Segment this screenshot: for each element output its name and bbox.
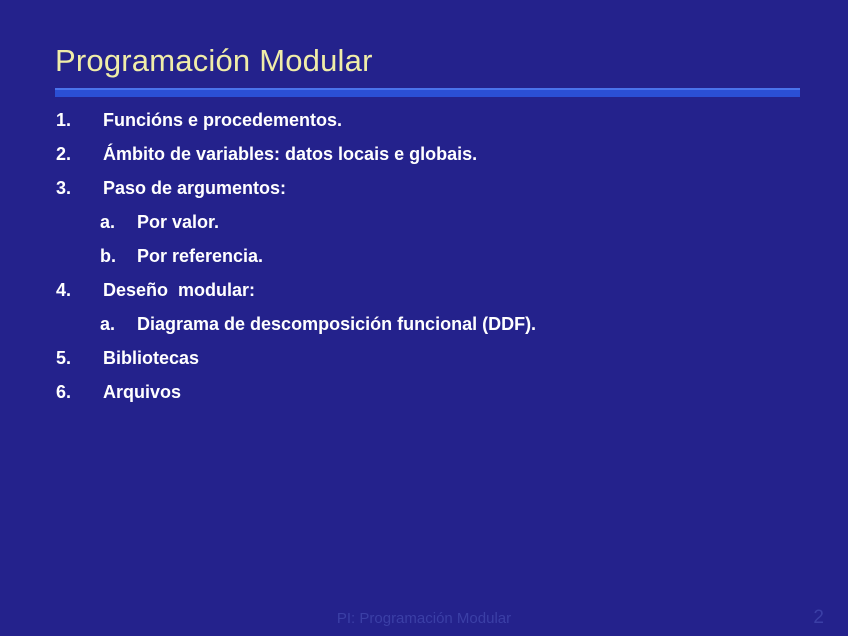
presentation-slide: Programación Modular 1.Funcións e proced… bbox=[0, 0, 848, 636]
list-item-label: Bibliotecas bbox=[103, 341, 199, 375]
list-item-label: Diagrama de descomposición funcional (DD… bbox=[137, 307, 536, 341]
list-item: 6.Arquivos bbox=[0, 375, 848, 409]
list-item-marker: 1. bbox=[56, 103, 71, 137]
list-item-label: Paso de argumentos: bbox=[103, 171, 286, 205]
list-item: 2.Ámbito de variables: datos locais e gl… bbox=[0, 137, 848, 171]
list-item-label: Ámbito de variables: datos locais e glob… bbox=[103, 137, 477, 171]
list-item-label: Arquivos bbox=[103, 375, 181, 409]
list-item: 5.Bibliotecas bbox=[0, 341, 848, 375]
list-item: 3.Paso de argumentos: bbox=[0, 171, 848, 205]
list-item: 4.Deseño modular: bbox=[0, 273, 848, 307]
list-item-label: Deseño modular: bbox=[103, 273, 255, 307]
list-item: a.Por valor. bbox=[0, 205, 848, 239]
outline-list: 1.Funcións e procedementos.2.Ámbito de v… bbox=[0, 103, 848, 409]
list-item: a.Diagrama de descomposición funcional (… bbox=[0, 307, 848, 341]
list-item-marker: 2. bbox=[56, 137, 71, 171]
list-item-marker: a. bbox=[100, 307, 115, 341]
slide-footer: PI: Programación Modular bbox=[0, 610, 848, 627]
list-item-label: Por valor. bbox=[137, 205, 219, 239]
list-item-label: Funcións e procedementos. bbox=[103, 103, 342, 137]
list-item-marker: a. bbox=[100, 205, 115, 239]
page-number: 2 bbox=[813, 607, 824, 629]
list-item-marker: 6. bbox=[56, 375, 71, 409]
list-item-marker: 3. bbox=[56, 171, 71, 205]
list-item-label: Por referencia. bbox=[137, 239, 263, 273]
list-item-marker: b. bbox=[100, 239, 116, 273]
list-item-marker: 4. bbox=[56, 273, 71, 307]
list-item: 1.Funcións e procedementos. bbox=[0, 103, 848, 137]
title-divider bbox=[55, 88, 800, 97]
list-item: b.Por referencia. bbox=[0, 239, 848, 273]
list-item-marker: 5. bbox=[56, 341, 71, 375]
page-title: Programación Modular bbox=[55, 43, 373, 79]
